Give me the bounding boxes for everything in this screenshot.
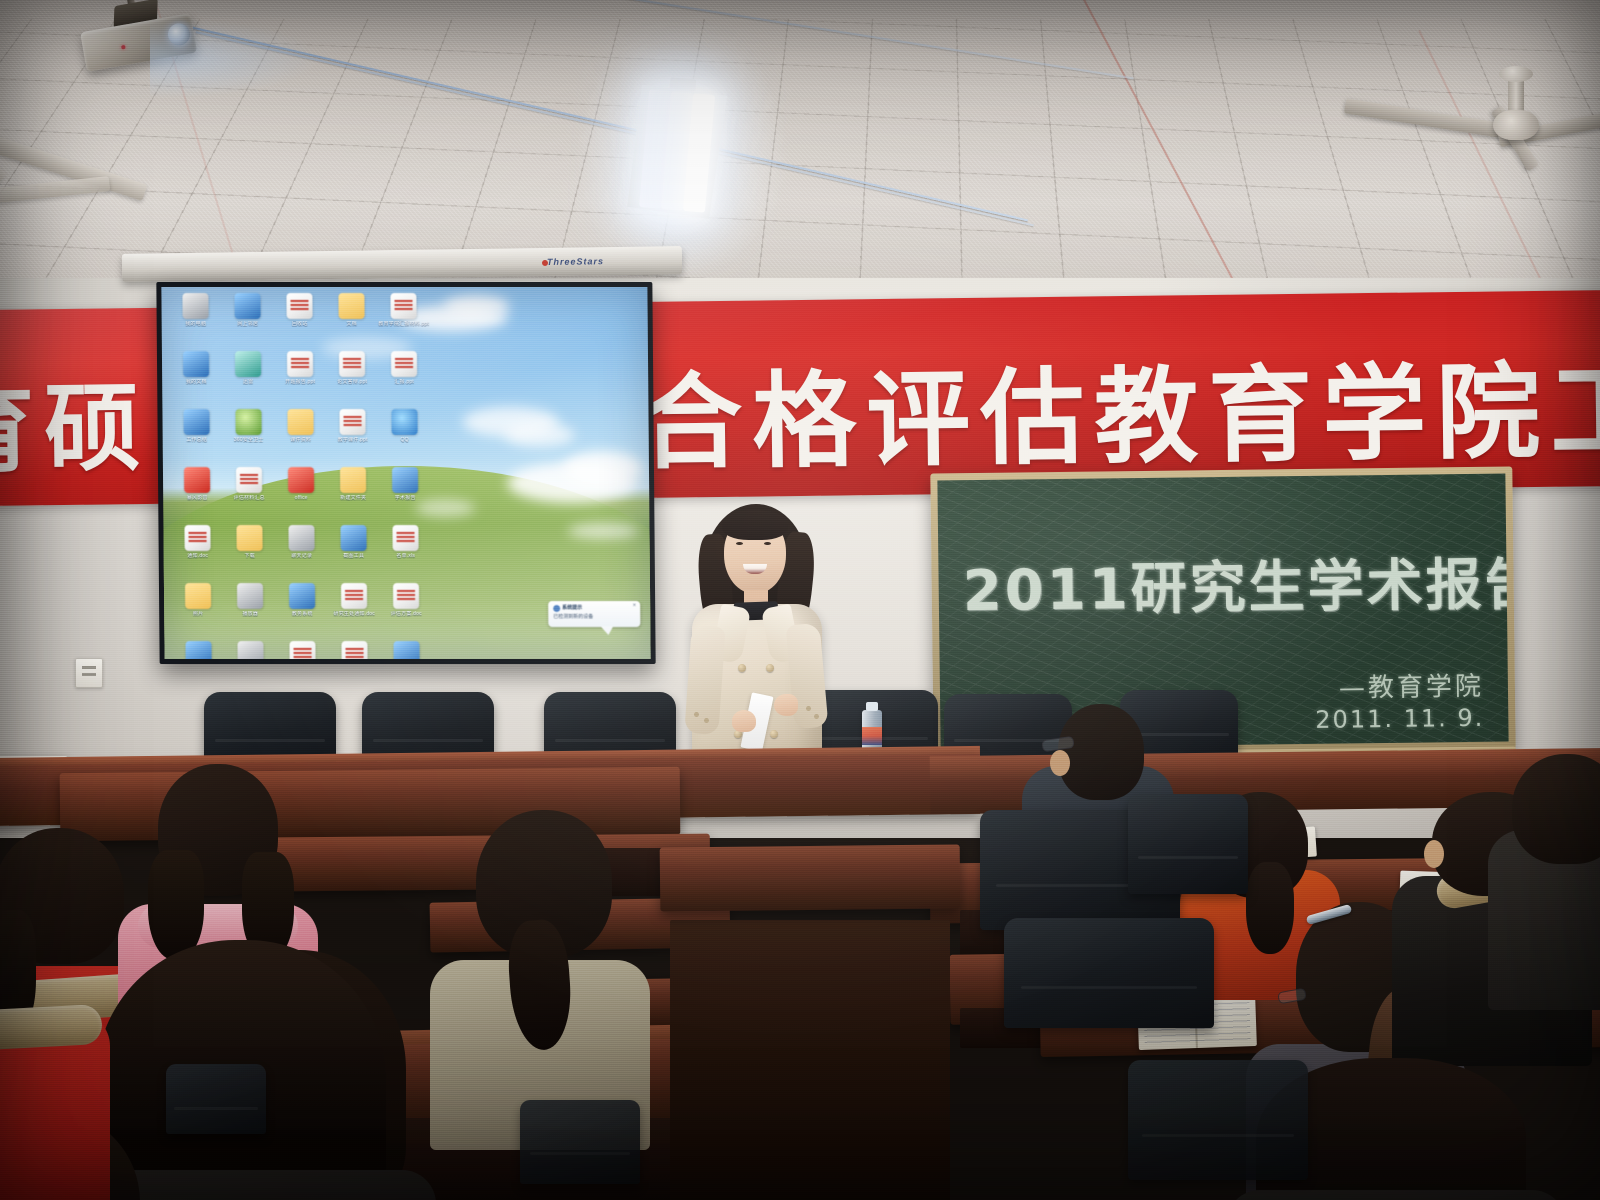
desktop-icon-glyph-icon <box>287 351 313 377</box>
desktop-icon-glyph-icon <box>287 409 313 435</box>
desktop-icon[interactable]: 播放器 <box>222 583 278 617</box>
audience-chair <box>166 1064 266 1134</box>
desktop-icon[interactable]: 学术报告 <box>377 467 433 501</box>
ceiling-fan-right <box>1330 60 1600 190</box>
desktop-icon[interactable]: 教育学院汇报材料.ppt <box>375 293 431 327</box>
desktop-icon-label: 照片 <box>170 611 226 617</box>
desktop-icon-label: 360安全卫士 <box>221 437 277 443</box>
projection-screen-border: 我的电脑网上邻居回收站文档教育学院汇报材料.ppt我的文档迅雷开题报告.ppt论… <box>156 282 655 664</box>
cloud <box>567 523 639 539</box>
desktop-icon-label: 评估材料汇总 <box>221 495 277 501</box>
desktop-icon[interactable]: 我的电脑 <box>167 293 223 327</box>
desktop-icon-label: 播放器 <box>222 611 278 617</box>
desktop-icon-glyph-icon <box>235 351 261 377</box>
screen-brand-label: ThreeStars <box>547 256 604 267</box>
desktop-icon-label: 开题报告.ppt <box>272 379 328 385</box>
desktop-icon[interactable]: 答辩稿.doc <box>326 641 382 659</box>
desktop-icon-glyph-icon <box>340 525 366 551</box>
desktop-icon[interactable]: 截图工具 <box>325 525 381 559</box>
desktop-icon[interactable]: 文档 <box>323 293 379 327</box>
desktop-icon-glyph-icon <box>392 525 418 551</box>
desktop-icon-glyph-icon <box>236 525 262 551</box>
cuff-button <box>704 718 709 723</box>
coat-button <box>738 664 746 672</box>
desktop-icon-label: 通知.doc <box>170 553 226 559</box>
desktop-icon-label: 聊天记录 <box>274 553 330 559</box>
fan-ceiling-mount <box>1499 66 1533 82</box>
desktop-icon-glyph-icon <box>393 641 419 659</box>
cloud <box>443 295 509 317</box>
presenter-hand-left <box>732 710 756 732</box>
desktop-icon-glyph-icon <box>339 351 365 377</box>
desktop-icon-label: 教育学院汇报材料.ppt <box>376 321 432 327</box>
bottle-cap <box>866 702 878 711</box>
audience-chair <box>520 1100 640 1184</box>
ceiling-fan-left <box>0 108 270 228</box>
desktop-icon[interactable]: 评估材料汇总 <box>221 467 277 501</box>
desktop-icon-glyph-icon <box>289 583 315 609</box>
desktop-icon-label: 新建文件夹 <box>325 495 381 501</box>
cuff-button <box>814 714 819 719</box>
desktop-icon[interactable]: 新建文件夹 <box>325 467 381 501</box>
desktop-icon[interactable]: 论文汇总.doc <box>274 641 330 659</box>
ceiling-light-fixture <box>627 84 728 219</box>
audience-chair <box>1128 794 1248 894</box>
desktop-icon[interactable]: 开题报告.ppt <box>272 351 328 385</box>
balloon-close-icon[interactable]: × <box>633 603 637 609</box>
desktop-icon-glyph-icon <box>390 293 416 319</box>
desktop-icon[interactable]: 网上邻居 <box>219 293 275 327</box>
person-head <box>1512 754 1600 864</box>
desktop-icon-label: 评估方案.doc <box>378 611 434 617</box>
person-body <box>1226 1190 1566 1200</box>
desktop-icon-glyph-icon <box>286 293 312 319</box>
desktop-icon[interactable]: 教学课件.ppt <box>324 409 380 443</box>
bench-desk <box>660 844 961 911</box>
desktop-icon-glyph-icon <box>340 467 366 493</box>
desktop-icon-glyph-icon <box>184 525 210 551</box>
desktop-icon-glyph-icon <box>236 467 262 493</box>
desktop-icon-label: 网上邻居 <box>220 321 276 327</box>
desktop-icon[interactable]: 课件资料 <box>272 409 328 443</box>
desktop-icon[interactable]: 工具 <box>222 641 278 659</box>
desktop-icon-glyph-icon <box>289 641 315 659</box>
audience-chair <box>1004 918 1214 1028</box>
person-hair <box>1246 862 1294 954</box>
desktop-icon[interactable]: 汇报.ppt <box>376 351 432 385</box>
desktop-icon-glyph-icon <box>183 351 209 377</box>
desktop-icon[interactable]: 回收站 <box>271 293 327 327</box>
desktop-icon-label: 暴风影音 <box>169 495 225 501</box>
desktop-icon-glyph-icon <box>235 409 261 435</box>
desktop-icon-glyph-icon <box>341 641 367 659</box>
desktop-icon-glyph-icon <box>288 467 314 493</box>
blackboard-title: 2011研究生学术报告会 <box>962 538 1508 627</box>
balloon-message: 已检测到新的设备 <box>553 613 593 620</box>
desktop-icon-glyph-icon <box>393 583 419 609</box>
desktop-icon-label: 下载 <box>222 553 278 559</box>
cloud <box>563 451 643 485</box>
cloud <box>505 423 575 447</box>
desktop-icon-label: 课件资料 <box>273 437 329 443</box>
audience-area <box>0 800 1600 1200</box>
person-ear <box>1050 750 1070 776</box>
desktop-icon-label: 教学课件.ppt <box>325 437 381 443</box>
desktop-icon-glyph-icon <box>184 467 210 493</box>
presenter-eye <box>736 542 743 545</box>
cuff-button <box>694 712 699 717</box>
desktop-icon-label: 我的文档 <box>168 379 224 385</box>
desktop-icon-label: 文档 <box>324 321 380 327</box>
desktop-icon-glyph-icon <box>392 467 418 493</box>
presenter-hand-right <box>774 694 798 716</box>
projected-desktop: 我的电脑网上邻居回收站文档教育学院汇报材料.ppt我的文档迅雷开题报告.ppt论… <box>161 287 650 659</box>
banner-right-text: 合格评估教育学院工作汇报会 <box>637 320 1600 489</box>
person-hair <box>148 850 204 960</box>
person-ear <box>1424 840 1444 868</box>
desktop-icon-glyph-icon <box>237 583 263 609</box>
presenter <box>682 498 830 766</box>
coat-button <box>766 664 774 672</box>
desktop-icon-label: 我的电脑 <box>168 321 224 327</box>
desktop-icon-label: 学术报告 <box>377 495 433 501</box>
desktop-icon[interactable]: 论文答辩.ppt <box>324 351 380 385</box>
desktop-icon-glyph-icon <box>183 409 209 435</box>
desktop-icon-label: 研究生处通知.doc <box>326 611 382 617</box>
desktop-icon[interactable]: 360安全卫士 <box>220 409 276 443</box>
desktop-icon-label: 迅雷 <box>220 379 276 385</box>
desktop-icon[interactable]: 我的文档 <box>168 351 224 385</box>
desktop-icon-glyph-icon <box>237 641 263 659</box>
desktop-icon-glyph-icon <box>391 409 417 435</box>
desktop-icon[interactable]: 工作总结 <box>168 409 224 443</box>
desktop-icon[interactable]: 教务系统 <box>274 583 330 617</box>
desktop-icon-label: 汇报.ppt <box>376 379 432 385</box>
desktop-icon[interactable]: 聊天记录 <box>273 525 329 559</box>
presenter-bangs <box>722 510 788 540</box>
desktop-icon-glyph-icon <box>339 409 365 435</box>
desktop-icon[interactable]: 名单.xls <box>377 525 433 559</box>
desktop-icon-label: 回收站 <box>272 321 328 327</box>
desktop-icon-label: QQ <box>377 437 433 443</box>
ceiling <box>0 0 1600 290</box>
coat-button <box>770 730 778 738</box>
desktop-icon-glyph-icon <box>288 525 314 551</box>
desktop-icon[interactable]: office <box>273 467 329 501</box>
desktop-icon[interactable]: 研究生处通知.doc <box>326 583 382 617</box>
desktop-icon-glyph-icon <box>391 351 417 377</box>
cuff-button <box>806 706 811 711</box>
desktop-icon-glyph-icon <box>338 293 364 319</box>
desktop-icon[interactable]: 通知.doc <box>169 525 225 559</box>
cloud <box>415 499 475 517</box>
desktop-icon-glyph-icon <box>234 293 260 319</box>
desktop-icon-label: office <box>273 495 329 501</box>
bottle-label <box>862 727 882 745</box>
fan-hub <box>1493 110 1539 140</box>
balloon-title: 系统提示 <box>562 604 582 611</box>
desktop-icon-glyph-icon <box>185 583 211 609</box>
desktop-icon[interactable]: 邮件 <box>170 641 226 659</box>
desktop-icon-glyph-icon <box>185 641 211 659</box>
fan-blade <box>0 176 110 211</box>
audience-chair <box>1128 1060 1308 1180</box>
desktop-icon-label: 截图工具 <box>326 553 382 559</box>
power-socket <box>75 658 103 688</box>
desktop-icon[interactable]: 迅雷 <box>220 351 276 385</box>
balloon-info-icon <box>553 605 560 612</box>
desktop-icon-label: 教务系统 <box>274 611 330 617</box>
desktop-icon[interactable]: QQ <box>376 409 432 443</box>
desktop-icon-glyph-icon <box>182 293 208 319</box>
lecture-hall-photo: 育硕 合格评估教育学院工作汇报会 2011研究生学术报告会 —教育学院 2011… <box>0 0 1600 1200</box>
desktop-icon-label: 论文答辩.ppt <box>324 379 380 385</box>
desktop-icon[interactable]: 照片 <box>170 583 226 617</box>
banner-left-text: 育硕 <box>0 350 151 492</box>
blackboard-date: 2011. 11. 9. <box>1315 704 1484 734</box>
aisle-shadow <box>670 920 950 1200</box>
desktop-icon[interactable]: 下载 <box>221 525 277 559</box>
system-tray-balloon[interactable]: 系统提示 × 已检测到新的设备 <box>548 601 640 627</box>
desktop-icon-glyph-icon <box>341 583 367 609</box>
desktop-icon[interactable]: 系统盘 <box>378 641 434 659</box>
blackboard-signature: —教育学院 <box>1339 666 1484 705</box>
desktop-icon[interactable]: 评估方案.doc <box>378 583 434 617</box>
desktop-icon-label: 工作总结 <box>169 437 225 443</box>
desktop-icon-label: 名单.xls <box>378 553 434 559</box>
person-head <box>1058 704 1144 800</box>
presenter-eye <box>764 542 771 545</box>
desktop-icon[interactable]: 暴风影音 <box>169 467 225 501</box>
